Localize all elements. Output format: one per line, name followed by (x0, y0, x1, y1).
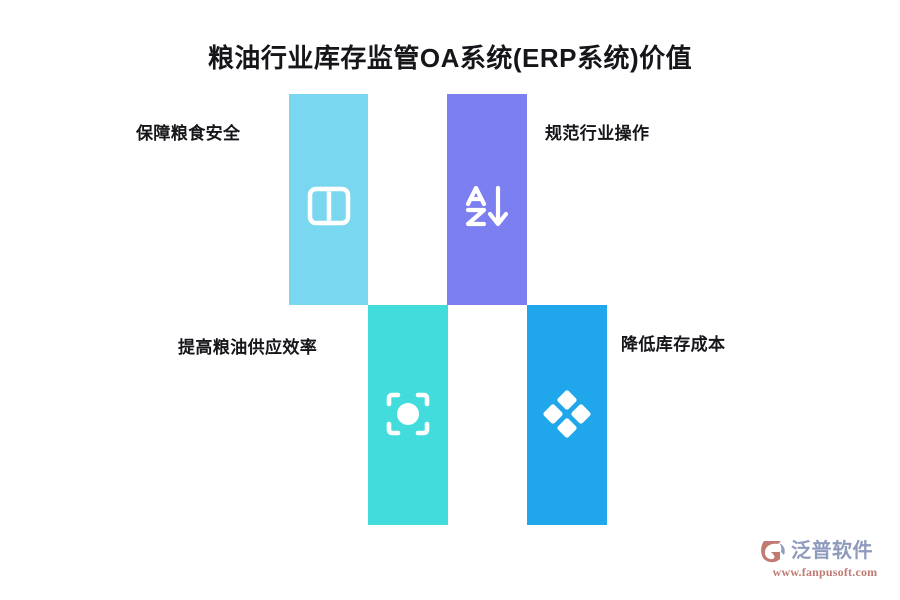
value-column-4 (527, 305, 607, 525)
brand-name: 泛普软件 (791, 541, 873, 561)
value-label-3: 提高粮油供应效率 (178, 333, 317, 358)
infographic-canvas: 粮油行业库存监管OA系统(ERP系统)价值 (0, 0, 900, 600)
value-column-3 (368, 305, 448, 525)
four-diamonds-icon (540, 387, 594, 441)
focus-scan-icon (381, 387, 435, 441)
brand-watermark: 泛普软件 www.fanpusoft.com (760, 538, 890, 588)
brand-url: www.fanpusoft.com (760, 565, 890, 580)
value-column-1 (289, 94, 368, 305)
value-column-2 (447, 94, 527, 305)
page-title: 粮油行业库存监管OA系统(ERP系统)价值 (0, 38, 900, 75)
value-label-2: 规范行业操作 (545, 119, 649, 144)
fanpu-swoosh-logo-icon (760, 538, 788, 564)
sort-az-descending-icon (460, 179, 514, 233)
value-label-1: 保障粮食安全 (136, 119, 240, 144)
value-label-4: 降低库存成本 (621, 330, 725, 355)
split-columns-icon (302, 179, 356, 233)
